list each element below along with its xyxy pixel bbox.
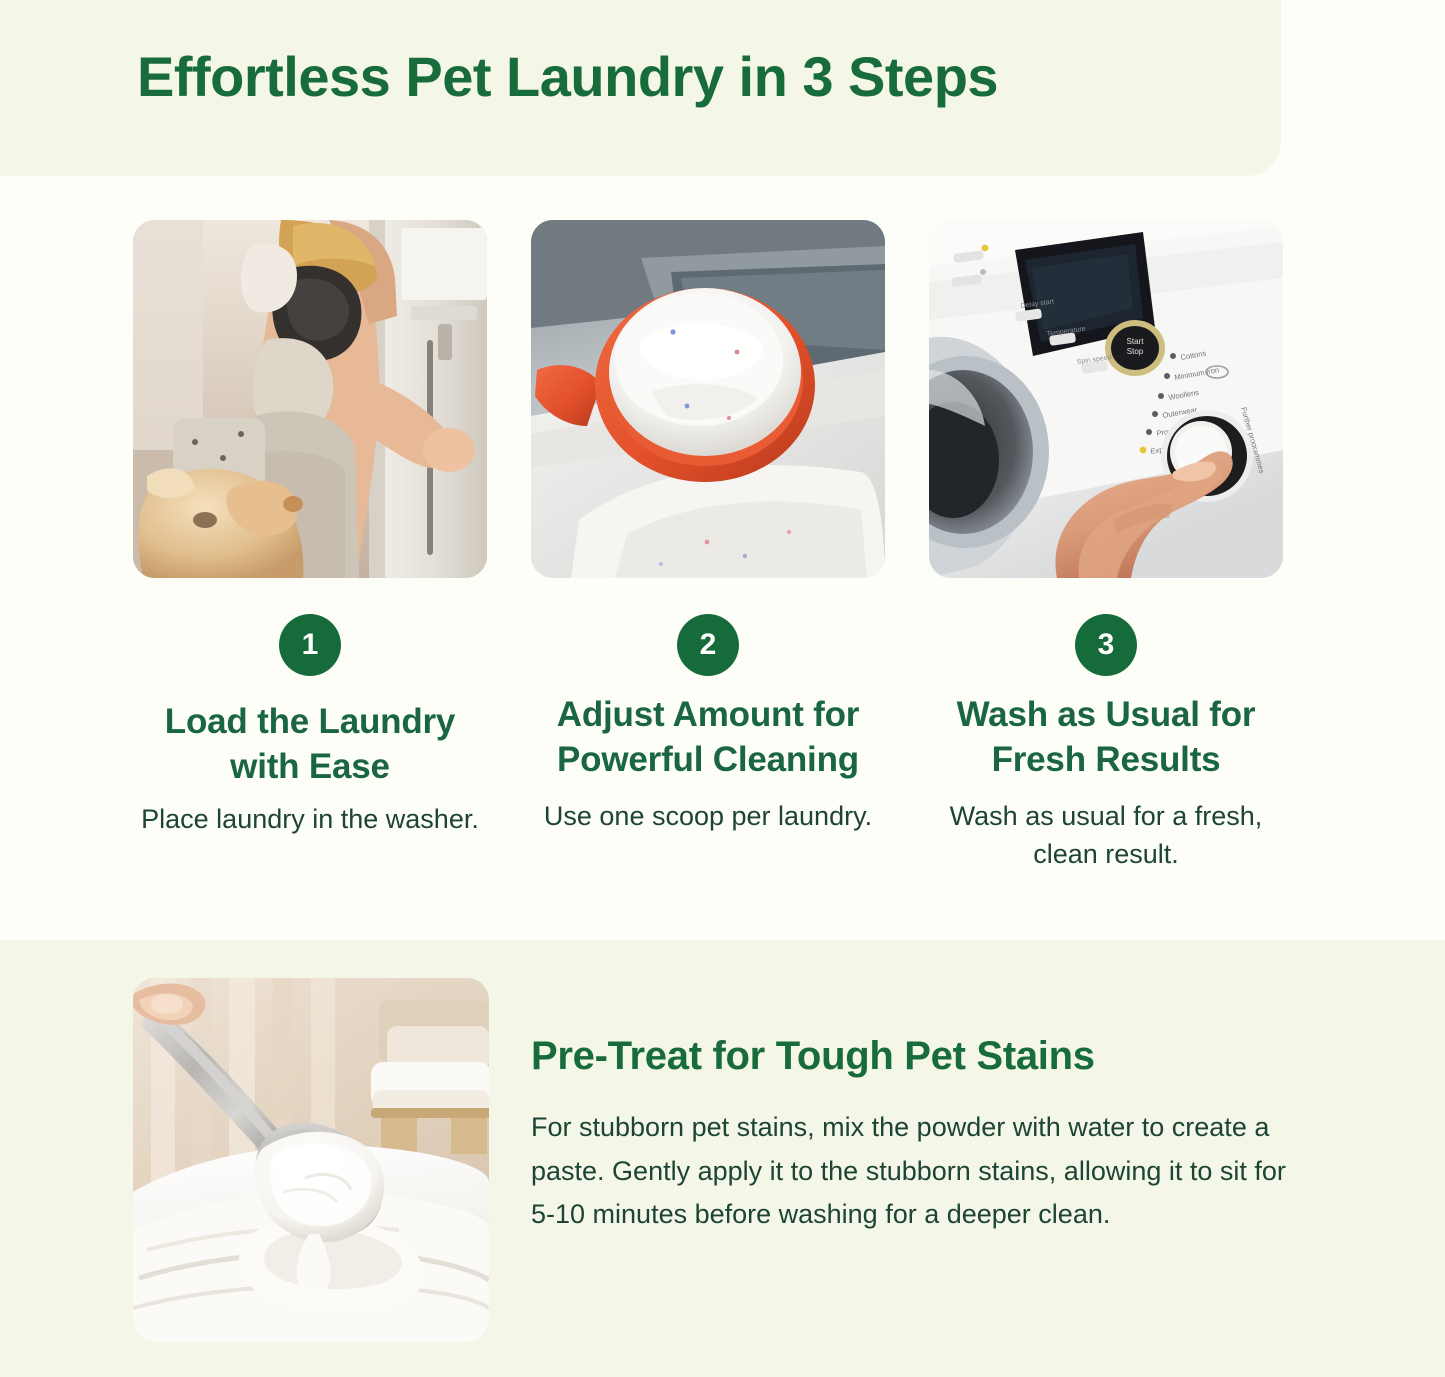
pretreat-section: Pre-Treat for Tough Pet Stains For stubb… — [0, 940, 1445, 1377]
pretreat-text-block: Pre-Treat for Tough Pet Stains For stubb… — [531, 1032, 1301, 1237]
hand-turning-washing-machine-dial-photo: Start Stop Delay start Temperature Spin … — [929, 220, 1283, 578]
page-title: Effortless Pet Laundry in 3 Steps — [137, 44, 998, 109]
step-card-1: 1 Load the Laundry with Ease Place laund… — [133, 220, 487, 873]
step-title-2: Adjust Amount for Powerful Cleaning — [531, 693, 885, 783]
step-number-badge-3: 3 — [1075, 614, 1137, 676]
detergent-scoop-powder-photo — [531, 220, 885, 578]
svg-text:Stop: Stop — [1127, 347, 1144, 356]
pretreat-title: Pre-Treat for Tough Pet Stains — [531, 1032, 1301, 1080]
header-band: Effortless Pet Laundry in 3 Steps — [0, 0, 1281, 176]
spoon-of-paste-on-white-towel-photo — [133, 978, 489, 1342]
svg-text:Start: Start — [1127, 337, 1145, 346]
steps-row: 1 Load the Laundry with Ease Place laund… — [133, 220, 1313, 873]
step-number-badge-1: 1 — [279, 614, 341, 676]
pretreat-body: For stubborn pet stains, mix the powder … — [531, 1106, 1301, 1237]
step-title-3: Wash as Usual for Fresh Results — [929, 693, 1283, 783]
step-description-1: Place laundry in the washer. — [133, 800, 487, 838]
step-description-3: Wash as usual for a fresh, clean result. — [929, 797, 1283, 874]
child-loading-washing-machine-with-dog-photo — [133, 220, 487, 578]
step-title-1: Load the Laundry with Ease — [133, 700, 487, 790]
step-card-2: 2 Adjust Amount for Powerful Cleaning Us… — [531, 220, 885, 873]
step-number-badge-2: 2 — [677, 614, 739, 676]
step-description-2: Use one scoop per laundry. — [531, 797, 885, 835]
steps-section: 1 Load the Laundry with Ease Place laund… — [0, 176, 1445, 940]
step-card-3: Start Stop Delay start Temperature Spin … — [929, 220, 1283, 873]
